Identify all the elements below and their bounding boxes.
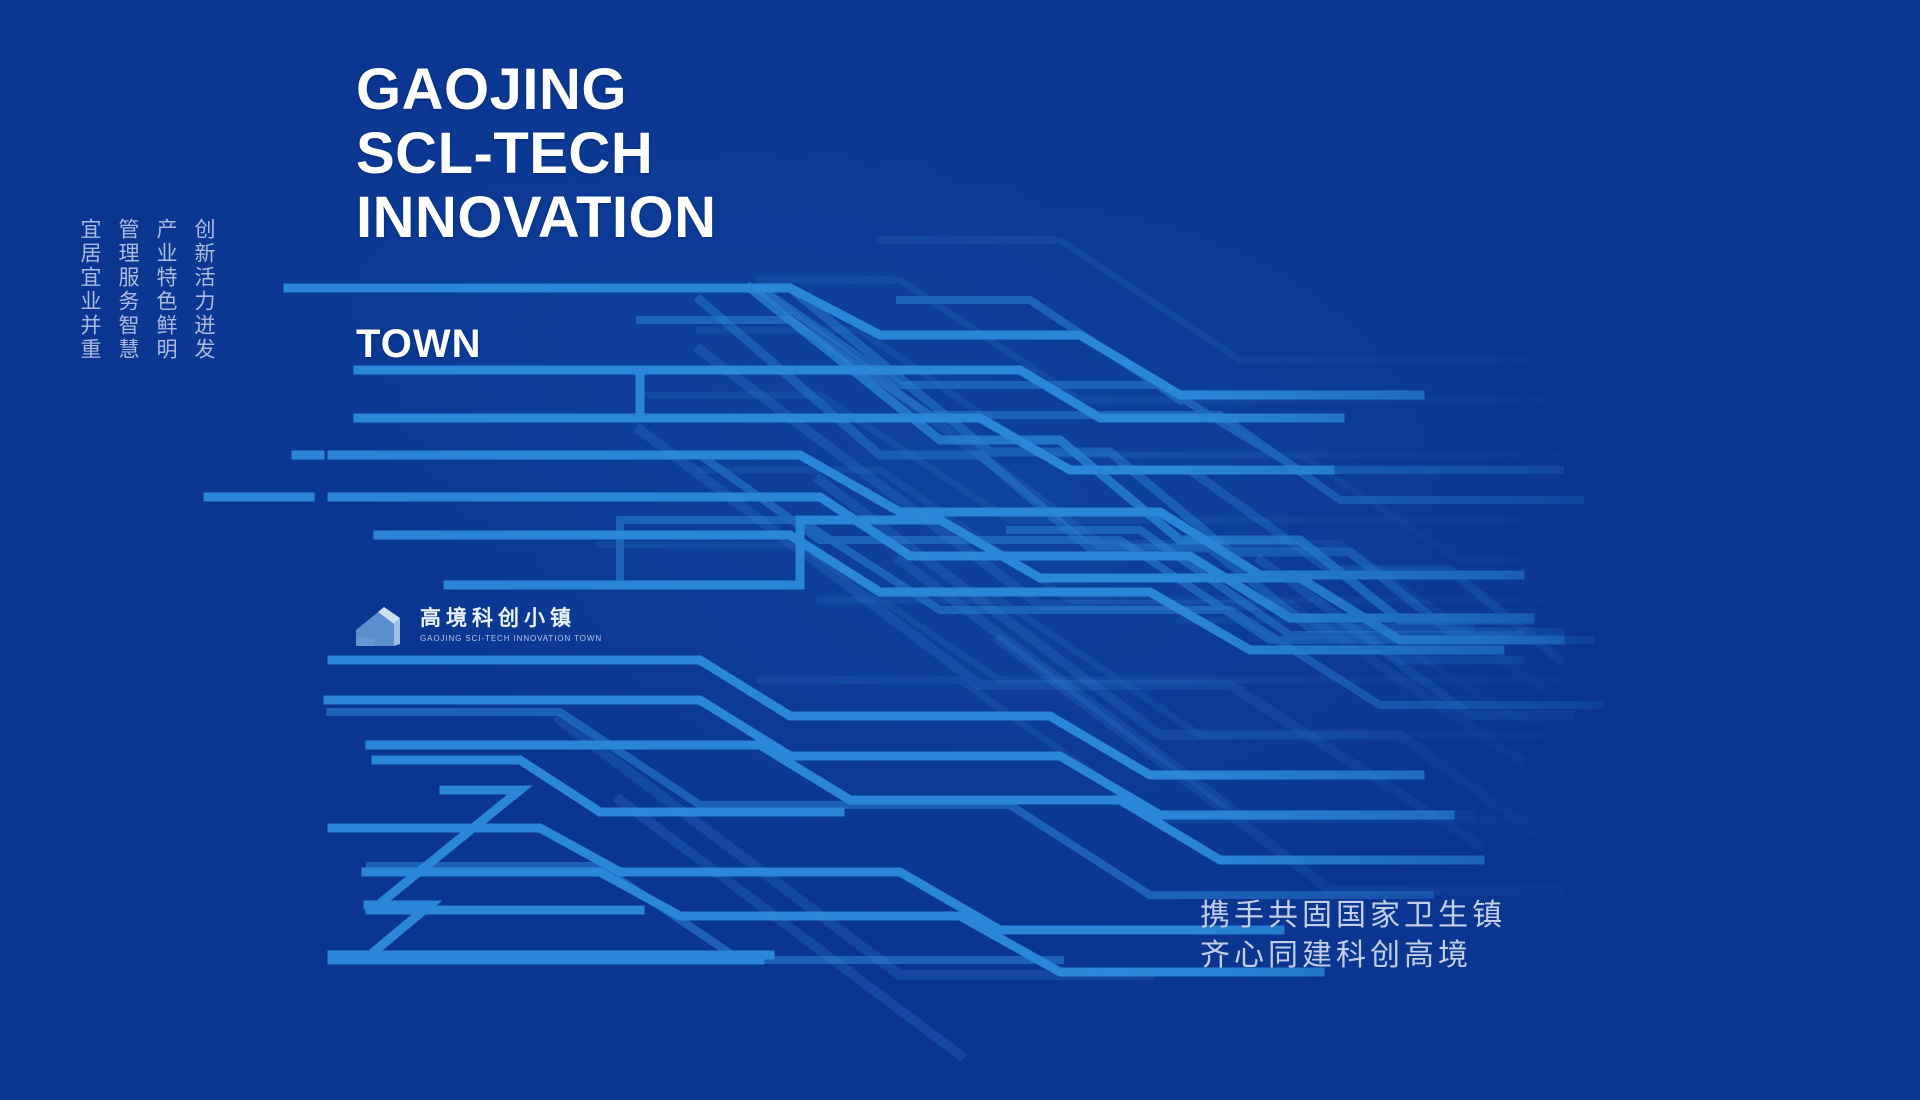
vertical-slogan-column-2: 产业特色鲜明: [152, 218, 178, 362]
brand-logo: 高境科创小镇 GAOJING SCI-TECH INNOVATION TOWN: [354, 604, 602, 648]
bottom-slogan-line-2: 齐心同建科创高境: [1200, 936, 1506, 976]
logo-name-en: GAOJING SCI-TECH INNOVATION TOWN: [420, 633, 602, 645]
title-line-2: SCL-TECH: [356, 122, 717, 186]
title-line-3: INNOVATION: [356, 186, 717, 250]
title-line-4: TOWN: [356, 322, 481, 366]
poster-canvas: GAOJING SCL-TECH INNOVATION TOWN 创新活力迸发 …: [0, 0, 1920, 1100]
bottom-slogan-line-1: 携手共固国家卫生镇: [1200, 896, 1506, 936]
page-title: GAOJING SCL-TECH INNOVATION: [356, 58, 717, 250]
vertical-slogan-column-4: 宜居宜业并重: [76, 218, 102, 362]
vertical-slogan: 创新活力迸发 产业特色鲜明 管理服务智慧 宜居宜业并重: [76, 218, 216, 362]
circuit-trace-artwork: [0, 0, 1920, 1100]
title-line-1: GAOJING: [356, 58, 717, 122]
bottom-slogan: 携手共固国家卫生镇 齐心同建科创高境: [1200, 896, 1506, 976]
vertical-slogan-column-3: 管理服务智慧: [114, 218, 140, 362]
logo-text-group: 高境科创小镇 GAOJING SCI-TECH INNOVATION TOWN: [420, 607, 602, 645]
vertical-slogan-column-1: 创新活力迸发: [190, 218, 216, 362]
logo-name-cn: 高境科创小镇: [420, 607, 602, 631]
background-glow: [0, 0, 1920, 1100]
house-roof-icon: [354, 604, 410, 648]
